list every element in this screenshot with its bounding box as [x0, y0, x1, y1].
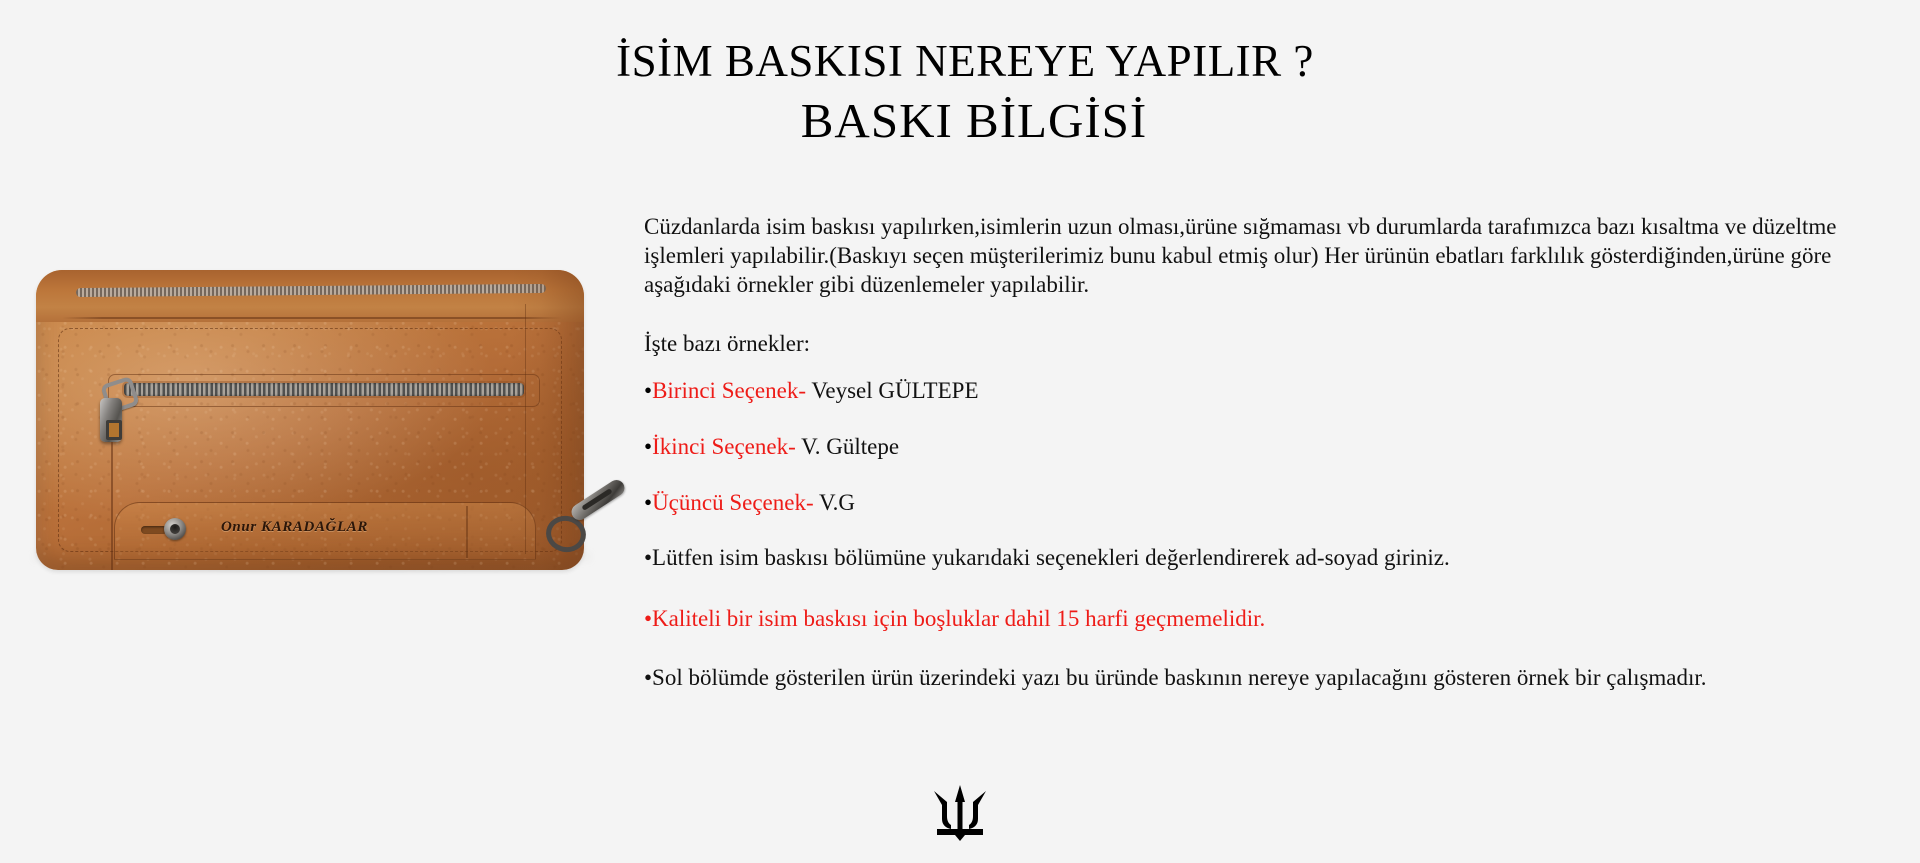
- page-subtitle: BASKI BİLGİSİ: [0, 92, 1920, 150]
- product-image-wallet: Onur KARADAĞLAR: [18, 248, 618, 588]
- lid-seam: [62, 317, 562, 319]
- zipper-pull-hole: [106, 420, 122, 440]
- sample-note: •Sol bölümde gösterilen ürün üzerindeki …: [644, 664, 1859, 692]
- bullet-icon: •: [644, 378, 652, 403]
- page-title: İSİM BASKISI NEREYE YAPILIR ?: [0, 34, 1920, 88]
- wallet-body: Onur KARADAĞLAR: [36, 270, 584, 570]
- front-zipper-track-icon: [124, 383, 524, 396]
- option-label: Birinci Seçenek-: [652, 378, 806, 403]
- list-item: •İkinci Seçenek- V. Gültepe: [644, 432, 1859, 461]
- zipper-seam-line: [111, 442, 113, 570]
- info-text-column: Cüzdanlarda isim baskısı yapılırken,isim…: [644, 212, 1859, 692]
- option-value: Veysel GÜLTEPE: [811, 378, 978, 403]
- heading-block: İSİM BASKISI NEREYE YAPILIR ? BASKI BİLG…: [0, 34, 1920, 150]
- print-info-banner: İSİM BASKISI NEREYE YAPILIR ? BASKI BİLG…: [0, 0, 1920, 863]
- limit-warning-note: •Kaliteli bir isim baskısı için boşlukla…: [644, 605, 1859, 633]
- side-seam: [525, 304, 527, 554]
- option-label: İkinci Seçenek-: [652, 434, 796, 459]
- option-label: Üçüncü Seçenek-: [652, 490, 814, 515]
- intro-paragraph: Cüzdanlarda isim baskısı yapılırken,isim…: [644, 212, 1849, 299]
- notes-block: •Lütfen isim baskısı bölümüne yukarıdaki…: [644, 544, 1859, 692]
- bullet-icon: •: [644, 434, 652, 459]
- trident-logo: [929, 785, 991, 841]
- engraved-name-text: Onur KARADAĞLAR: [221, 519, 368, 536]
- option-value: V. Gültepe: [801, 434, 899, 459]
- metal-eyelet-core: [170, 524, 180, 534]
- list-item: •Birinci Seçenek- Veysel GÜLTEPE: [644, 376, 1859, 405]
- instruction-note: •Lütfen isim baskısı bölümüne yukarıdaki…: [644, 544, 1859, 572]
- bullet-icon: •: [644, 490, 652, 515]
- engraving-strip-divider: [466, 506, 468, 558]
- option-value: V.G: [819, 490, 855, 515]
- option-list: •Birinci Seçenek- Veysel GÜLTEPE •İkinci…: [644, 376, 1859, 517]
- list-item: •Üçüncü Seçenek- V.G: [644, 488, 1859, 517]
- examples-lead: İşte bazı örnekler:: [644, 329, 1859, 358]
